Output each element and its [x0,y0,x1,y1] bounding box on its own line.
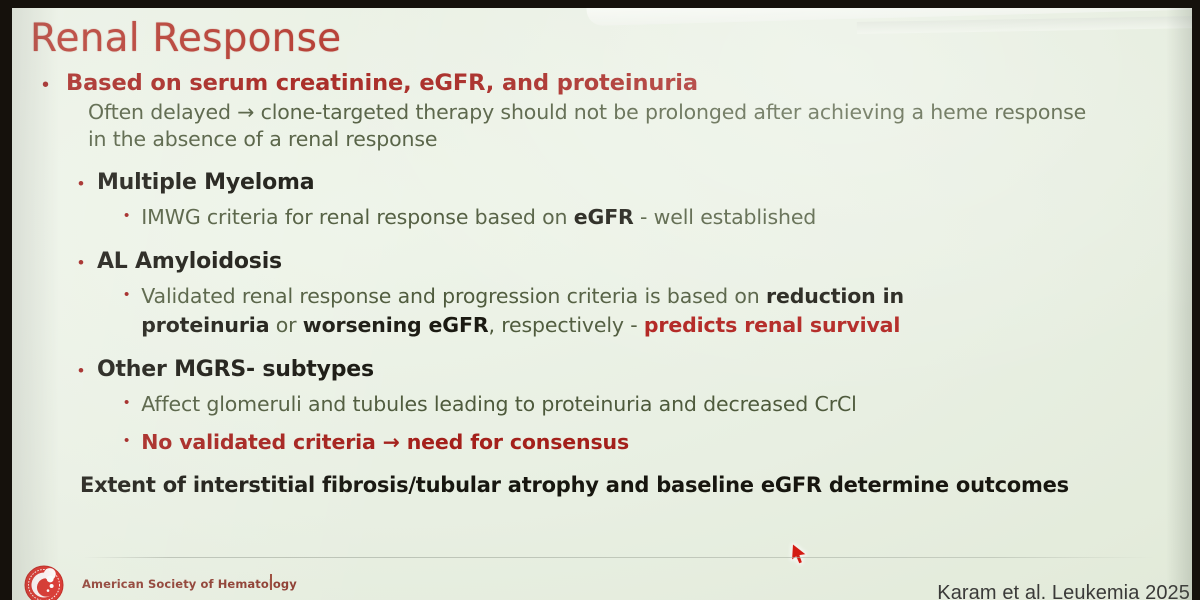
citation-text: Karam et al. Leukemia 2025 [937,582,1190,600]
american-society-of-hematology-logo-icon [24,565,64,600]
sub-bullet-imwg-criteria: • IMWG criteria for renal response based… [12,203,1192,232]
primary-bullet-paragraph: Often delayed → clone-targeted therapy s… [12,99,1098,153]
bullet-item-primary: • Based on serum creatinine, eGFR, and p… [12,70,1192,96]
section-label: Other MGRS- subtypes [97,357,374,382]
bullet-marker-icon: • [124,428,141,448]
page-title: Renal Response [30,16,341,61]
footer-divider [84,557,1154,558]
text-emphasis-2: worsening eGFR [303,313,489,337]
grey-accent-stripe [857,15,1192,34]
text-mid: or [269,313,302,337]
bullet-marker-icon: • [124,282,141,302]
footer-separator [270,574,272,590]
sub-bullet-text: IMWG criteria for renal response based o… [141,203,816,232]
presentation-slide: Renal Response • Based on serum creatini… [12,8,1192,600]
bullet-marker-icon: • [124,203,141,223]
text-emphasis: eGFR [574,205,634,229]
bullet-marker-icon: • [124,390,141,410]
footer-organization-label: American Society of Hematology [82,577,297,591]
sub-bullet-no-validated-criteria: • No validated criteria → need for conse… [12,428,1192,457]
bullet-marker-icon: • [78,357,97,379]
primary-bullet-heading: Based on serum creatinine, eGFR, and pro… [66,70,698,96]
bullet-marker-icon: • [78,249,97,271]
section-label: AL Amyloidosis [97,249,282,274]
section-heading-multiple-myeloma: • Multiple Myeloma [12,170,1192,195]
accent-phrase: predicts renal survival [644,313,900,337]
sub-bullet-affect-glomeruli: • Affect glomeruli and tubules leading t… [12,390,1192,419]
text-prefix: IMWG criteria for renal response based o… [141,205,574,229]
sub-bullet-text: No validated criteria → need for consens… [141,428,629,457]
photographed-slide-frame: Renal Response • Based on serum creatini… [0,0,1200,600]
sub-bullet-text: Affect glomeruli and tubules leading to … [141,390,856,419]
text-suffix: , respectively - [488,313,643,337]
section-heading-al-amyloidosis: • AL Amyloidosis [12,249,1192,274]
summary-statement: Extent of interstitial fibrosis/tubular … [12,473,1192,497]
text-prefix: Validated renal response and progression… [141,284,766,308]
slide-footer: American Society of Hematology Karam et … [12,560,1192,600]
section-heading-other-mgrs-subtypes: • Other MGRS- subtypes [12,357,1192,382]
sub-bullet-text: Validated renal response and progression… [141,282,1031,340]
bullet-marker-icon: • [42,70,66,95]
slide-content: • Based on serum creatinine, eGFR, and p… [12,70,1192,497]
sub-bullet-validated-criteria: • Validated renal response and progressi… [12,282,1192,340]
section-label: Multiple Myeloma [97,170,314,195]
bullet-marker-icon: • [78,170,97,192]
text-suffix: - well established [634,205,816,229]
